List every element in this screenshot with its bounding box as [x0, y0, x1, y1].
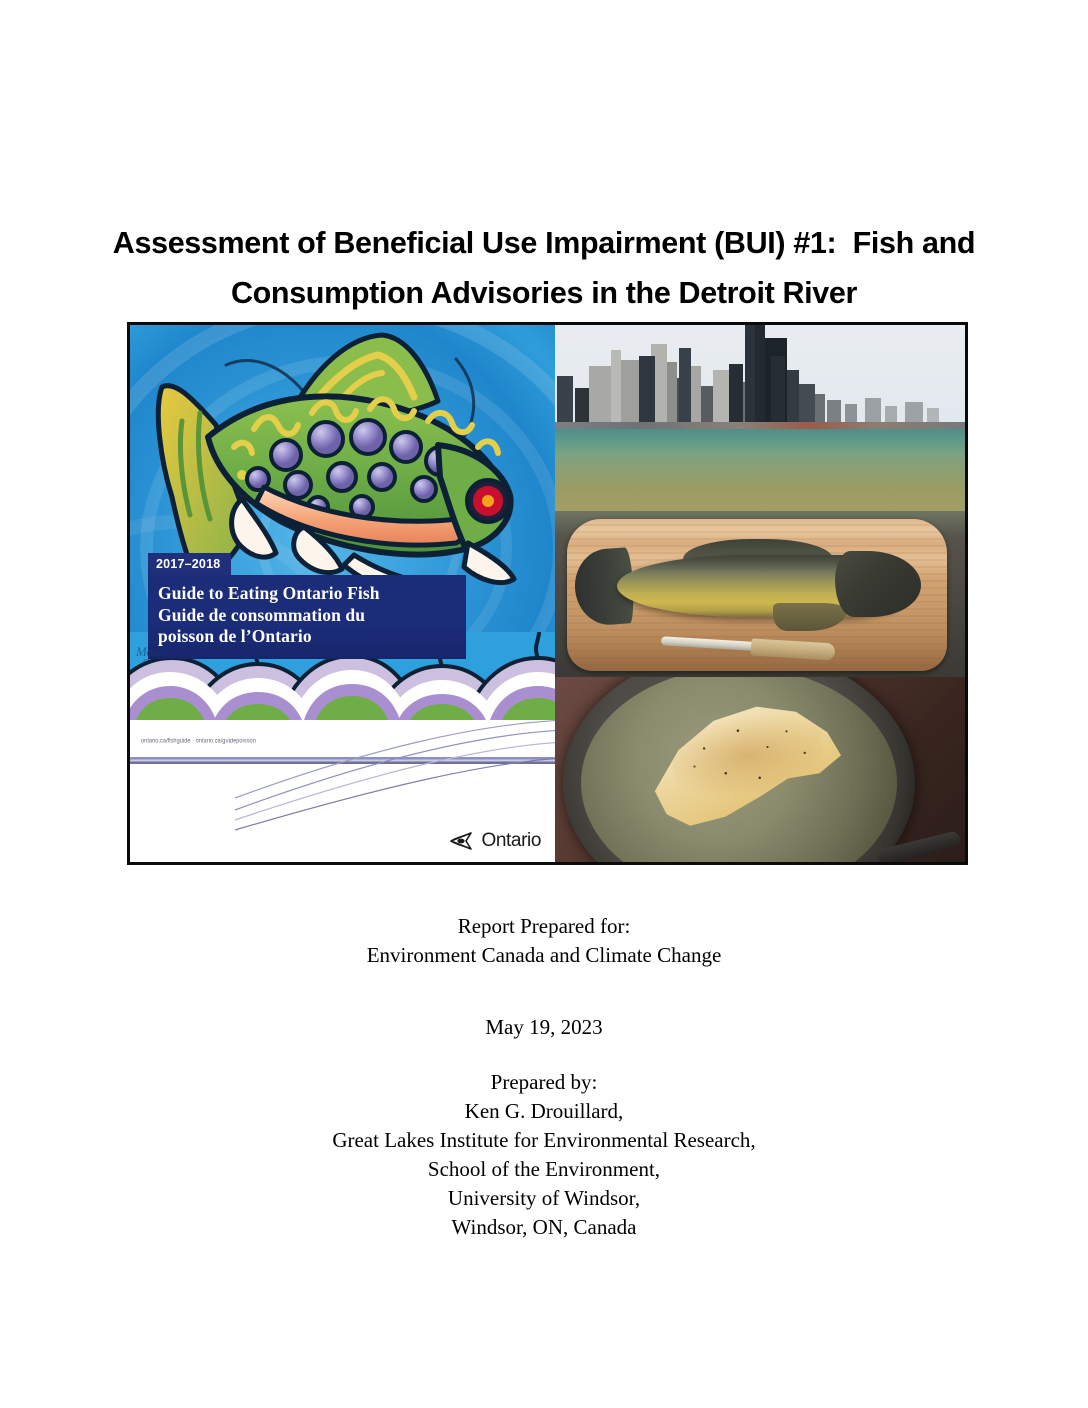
author-name: Ken G. Drouillard,	[94, 1097, 994, 1126]
artist-signature: Moses 17	[136, 647, 167, 667]
detroit-river-water	[555, 429, 965, 511]
author-location: Windsor, ON, Canada	[94, 1213, 994, 1242]
guide-title-fr-line-2: poisson de l’Ontario	[158, 626, 456, 648]
guide-title-plate: Guide to Eating Ontario Fish Guide de co…	[148, 575, 466, 659]
guide-cover-url: ontario.ca/fishguide · ontario.ca/guidep…	[141, 738, 256, 745]
detroit-skyline-photo	[555, 325, 965, 511]
guide-title-en: Guide to Eating Ontario Fish	[158, 583, 456, 605]
walleye-on-cutting-board-photo	[555, 511, 965, 677]
author-school: School of the Environment,	[94, 1155, 994, 1184]
author-institute: Great Lakes Institute for Environmental …	[94, 1126, 994, 1155]
prepared-for-organization: Environment Canada and Climate Change	[94, 941, 994, 970]
prepared-for-label: Report Prepared for:	[94, 912, 994, 941]
page-title: Assessment of Beneficial Use Impairment …	[96, 218, 992, 318]
guide-cover-footer: ontario.ca/fishguide · ontario.ca/guidep…	[130, 720, 555, 862]
fried-fish-fillet-photo	[555, 677, 965, 862]
shoreline	[555, 422, 965, 429]
page-title-line-2: Consumption Advisories in the Detroit Ri…	[96, 268, 992, 318]
report-date: May 19, 2023	[94, 1013, 994, 1042]
guide-cover-artwork: Moses 17 2017–2018 Guide to Eating Ontar…	[130, 325, 555, 862]
guide-title-fr-line-1: Guide de consommation du	[158, 605, 456, 627]
cover-footer-text: Report Prepared for: Environment Canada …	[94, 912, 994, 1242]
guide-cover-panel: Moses 17 2017–2018 Guide to Eating Ontar…	[130, 325, 555, 862]
ontario-trillium-icon	[447, 830, 477, 852]
ontario-logo: Ontario	[447, 830, 541, 852]
guide-year-badge: 2017–2018	[148, 553, 231, 575]
page-title-line-1: Assessment of Beneficial Use Impairment …	[96, 218, 992, 268]
guide-cover-swoosh-lines	[245, 702, 555, 822]
prepared-by-label: Prepared by:	[94, 1068, 994, 1097]
author-university: University of Windsor,	[94, 1184, 994, 1213]
photo-stack	[555, 325, 965, 862]
cover-image-collage: Moses 17 2017–2018 Guide to Eating Ontar…	[127, 322, 968, 865]
ontario-logo-text: Ontario	[481, 830, 541, 852]
